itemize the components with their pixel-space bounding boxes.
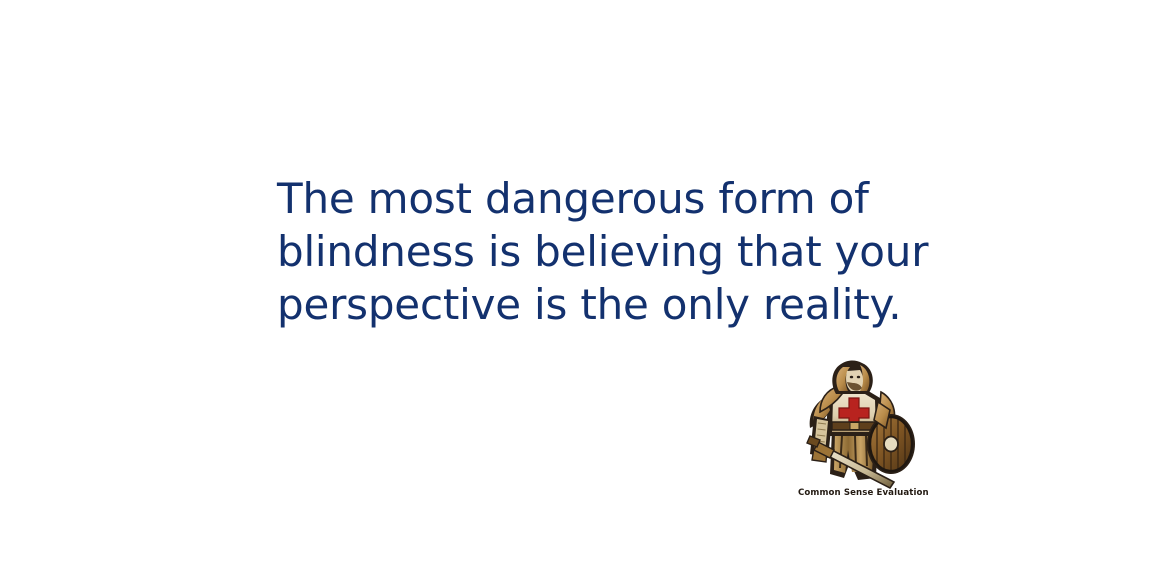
- knight-shield: [867, 414, 915, 474]
- crusader-knight-icon: [798, 358, 922, 490]
- quote-line-1: The most dangerous form of: [277, 172, 917, 225]
- shield-boss: [884, 437, 898, 452]
- brand-watermark: Common Sense Evaluation: [798, 358, 922, 508]
- quote-text-block: The most dangerous form of blindness is …: [277, 172, 917, 331]
- belt-buckle: [850, 423, 859, 430]
- slide-canvas: The most dangerous form of blindness is …: [0, 0, 1170, 574]
- knight-eye-right: [857, 376, 860, 379]
- brand-caption: Common Sense Evaluation: [798, 488, 922, 498]
- quote-line-2: blindness is believing that your: [277, 225, 917, 278]
- quote-line-3: perspective is the only reality.: [277, 278, 917, 331]
- skirt-fold-3: [866, 436, 867, 466]
- knight-eye-left: [850, 376, 853, 379]
